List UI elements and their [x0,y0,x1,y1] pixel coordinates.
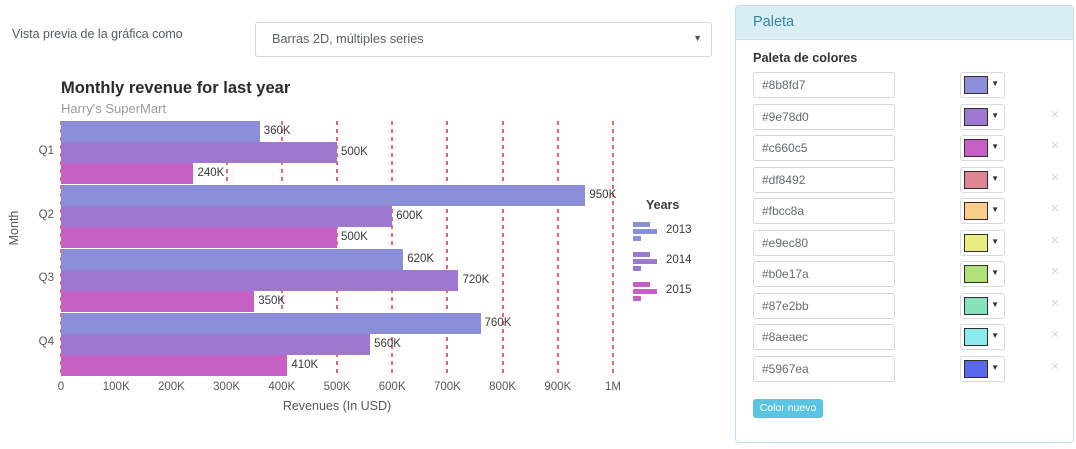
legend-swatch-icon [633,282,659,306]
color-swatch [964,328,988,346]
color-row: ▼× [736,104,1073,136]
bar [61,313,481,334]
y-axis-tick-label: Q1 [14,145,54,157]
bar [61,270,458,291]
gridline [557,121,559,376]
remove-color-icon[interactable]: × [1047,327,1063,343]
color-row: ▼× [736,198,1073,230]
x-axis-tick-label: 1M [605,381,621,393]
palette-section-title: Paleta de colores [753,51,1073,65]
color-swatch [964,139,988,157]
gridline [502,121,504,376]
x-axis-tick-label: 400K [268,381,295,393]
bar-value-label: 410K [287,355,318,376]
chevron-down-icon: ▼ [991,175,999,183]
chart-type-value: Barras 2D, múltiples series [272,32,424,46]
x-axis-tick-label: 600K [379,381,406,393]
chevron-down-icon: ▼ [991,301,999,309]
color-swatch-picker[interactable]: ▼ [960,167,1005,193]
chart-type-select[interactable]: Barras 2D, múltiples series ▼ [255,22,712,57]
bar-value-label: 620K [403,249,434,270]
legend-item: 2014 [633,250,723,280]
color-swatch-picker[interactable]: ▼ [960,293,1005,319]
palette-panel: Paleta Paleta de colores ▼▼×▼×▼×▼×▼×▼×▼×… [735,5,1074,443]
color-swatch [964,360,988,378]
chevron-down-icon: ▼ [991,143,999,151]
color-hex-input[interactable] [753,198,895,224]
x-axis-tick-label: 100K [103,381,130,393]
color-swatch [964,297,988,315]
legend-item: 2013 [633,220,723,250]
bar [61,249,403,270]
color-hex-input[interactable] [753,293,895,319]
color-swatch-picker[interactable]: ▼ [960,135,1005,161]
palette-panel-title: Paleta [753,14,794,30]
x-axis-tick-label: 800K [489,381,516,393]
chart-type-label: Vista previa de la gráfica como [12,27,183,41]
remove-color-icon[interactable]: × [1047,296,1063,312]
color-swatch [964,108,988,126]
bar [61,206,392,227]
bar-value-label: 500K [337,142,368,163]
remove-color-icon[interactable]: × [1047,359,1063,375]
bar-value-label: 560K [370,334,401,355]
chart-plot-area: 360K500K240K950K600K500K620K720K350K760K… [61,121,613,376]
bar-value-label: 360K [260,121,291,142]
chart-legend: Years 201320142015 [633,198,723,310]
bar-value-label: 500K [337,227,368,248]
color-swatch [964,171,988,189]
remove-color-icon[interactable]: × [1047,233,1063,249]
color-row: ▼× [736,167,1073,199]
color-hex-input[interactable] [753,261,895,287]
x-axis-title: Revenues (In USD) [61,399,613,413]
bar-value-label: 760K [481,313,512,334]
color-swatch-picker[interactable]: ▼ [960,198,1005,224]
color-hex-input[interactable] [753,230,895,256]
color-swatch [964,234,988,252]
color-hex-input[interactable] [753,135,895,161]
legend-title: Years [646,198,723,212]
color-swatch [964,265,988,283]
chart-subtitle: Harry's SuperMart [61,101,166,116]
legend-item: 2015 [633,280,723,310]
bar [61,142,337,163]
color-hex-input[interactable] [753,356,895,382]
x-axis-tick-label: 500K [324,381,351,393]
color-swatch-picker[interactable]: ▼ [960,356,1005,382]
y-axis-tick-label: Q2 [14,209,54,221]
bar [61,227,337,248]
bar [61,334,370,355]
color-swatch-picker[interactable]: ▼ [960,104,1005,130]
chart-type-row: Vista previa de la gráfica como Barras 2… [0,22,728,62]
bar [61,163,193,184]
y-axis-tick-label: Q3 [14,272,54,284]
legend-label: 2015 [666,284,692,296]
gridline [612,121,614,376]
y-axis-tick-label: Q4 [14,336,54,348]
legend-swatch-icon [633,252,659,276]
chevron-down-icon: ▼ [991,238,999,246]
chevron-down-icon: ▼ [991,206,999,214]
palette-panel-header: Paleta [736,6,1073,40]
color-hex-input[interactable] [753,167,895,193]
chevron-down-icon: ▼ [991,112,999,120]
color-row: ▼× [736,135,1073,167]
bar [61,185,585,206]
chevron-down-icon: ▼ [991,269,999,277]
bar-value-label: 240K [193,163,224,184]
color-swatch [964,76,988,94]
chevron-down-icon: ▼ [693,34,702,43]
bar-value-label: 600K [392,206,423,227]
color-swatch-picker[interactable]: ▼ [960,230,1005,256]
bar-value-label: 350K [254,291,285,312]
chevron-down-icon: ▼ [991,80,999,88]
chart-title: Monthly revenue for last year [61,79,290,98]
color-swatch-picker[interactable]: ▼ [960,324,1005,350]
legend-swatch-icon [633,222,659,246]
color-row: ▼× [736,261,1073,293]
remove-color-icon[interactable]: × [1047,138,1063,154]
x-axis-tick-label: 700K [434,381,461,393]
x-axis-tick-label: 300K [213,381,240,393]
remove-color-icon[interactable]: × [1047,170,1063,186]
color-hex-input[interactable] [753,104,895,130]
chart-preview-screen: Vista previa de la gráfica como Barras 2… [0,0,1076,449]
color-swatch [964,202,988,220]
color-swatch-picker[interactable]: ▼ [960,72,1005,98]
x-axis-tick-label: 200K [158,381,185,393]
color-row: ▼× [736,230,1073,262]
chevron-down-icon: ▼ [991,332,999,340]
color-row: ▼ [736,72,1073,104]
bar [61,291,254,312]
gridline [446,121,448,376]
legend-label: 2013 [666,224,692,236]
bar [61,121,260,142]
remove-color-icon[interactable]: × [1047,264,1063,280]
bar-value-label: 950K [585,185,616,206]
new-color-button[interactable]: Color nuevo [753,399,823,418]
color-hex-input[interactable] [753,72,895,98]
chart-preview-pane: Vista previa de la gráfica como Barras 2… [0,0,728,449]
color-row: ▼× [736,356,1073,388]
legend-label: 2014 [666,254,692,266]
bar [61,355,287,376]
color-row: ▼× [736,293,1073,325]
x-axis-tick-label: 0 [58,381,64,393]
color-row-list: ▼▼×▼×▼×▼×▼×▼×▼×▼×▼× [736,72,1073,387]
color-row: ▼× [736,324,1073,356]
color-swatch-picker[interactable]: ▼ [960,261,1005,287]
palette-panel-body: Paleta de colores ▼▼×▼×▼×▼×▼×▼×▼×▼×▼× Co… [736,40,1073,387]
bar-value-label: 720K [458,270,489,291]
remove-color-icon[interactable]: × [1047,107,1063,123]
x-axis-tick-label: 900K [544,381,571,393]
chevron-down-icon: ▼ [991,364,999,372]
remove-color-icon[interactable]: × [1047,201,1063,217]
color-hex-input[interactable] [753,324,895,350]
